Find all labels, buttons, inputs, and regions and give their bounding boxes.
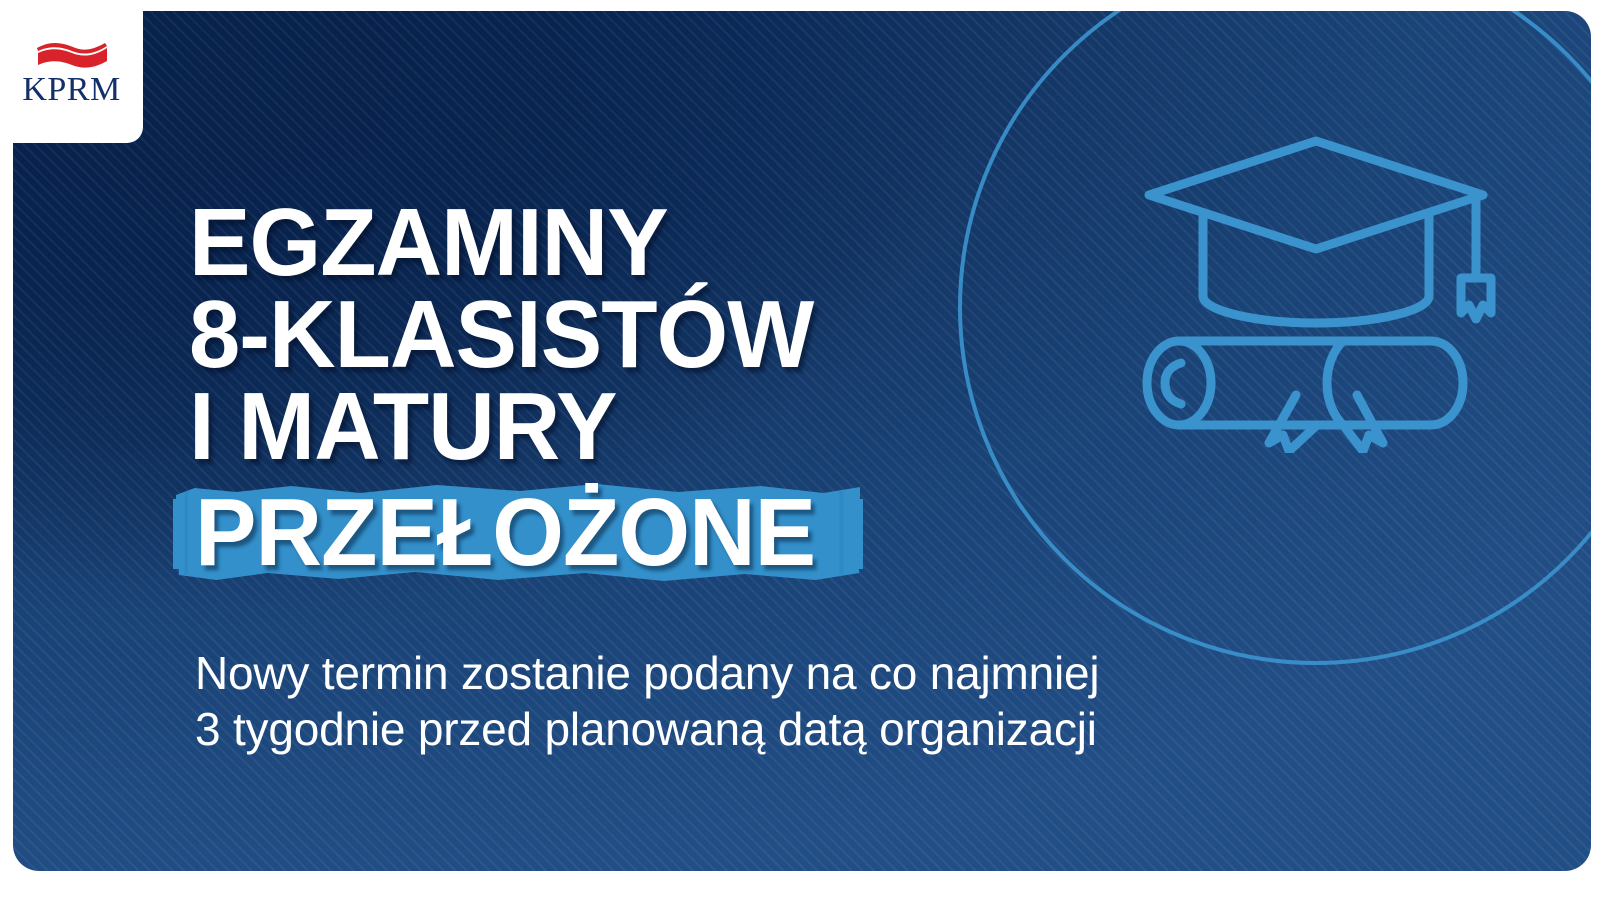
headline-highlight-wrapper: PRZEŁOŻONE (173, 477, 863, 593)
subtitle-line-2: 3 tygodnie przed planowaną datą organiza… (195, 701, 1099, 757)
poster-canvas: EGZAMINY 8-KLASISTÓW I MATURY PRZEŁOŻONE… (0, 0, 1600, 900)
headline-line-2: 8-KLASISTÓW (189, 289, 836, 381)
polish-flag-icon (33, 37, 111, 71)
headline: EGZAMINY 8-KLASISTÓW I MATURY PRZEŁOŻONE (189, 197, 863, 593)
subtitle: Nowy termin zostanie podany na co najmni… (195, 645, 1099, 757)
headline-highlight-text: PRZEŁOŻONE (195, 487, 815, 579)
headline-line-1: EGZAMINY (189, 197, 836, 289)
kprm-logo-badge: KPRM (0, 0, 143, 143)
poster-card: EGZAMINY 8-KLASISTÓW I MATURY PRZEŁOŻONE… (13, 11, 1591, 871)
graduation-cap-diploma-icon (1131, 123, 1501, 453)
headline-line-3: I MATURY (189, 381, 836, 473)
kprm-logo-text: KPRM (22, 73, 120, 107)
subtitle-line-1: Nowy termin zostanie podany na co najmni… (195, 645, 1099, 701)
